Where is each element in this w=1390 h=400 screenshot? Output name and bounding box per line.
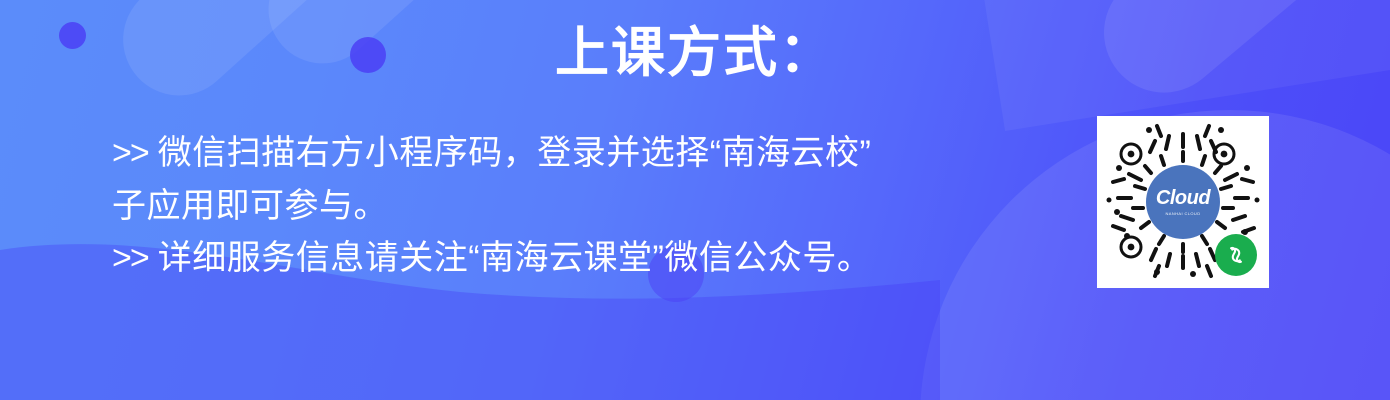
banner-title: 上课方式： <box>0 24 1390 83</box>
qr-logo-subtext: NANHAI CLOUD <box>1165 211 1200 216</box>
qr-code-card[interactable]: Cloud NANHAI CLOUD <box>1097 116 1269 288</box>
body-line-3-text: 详细服务信息请关注“南海云课堂”微信公众号。 <box>158 239 872 277</box>
banner-body: >>微信扫描右方小程序码，登录并选择“南海云校” 子应用即可参与。 >>详细服务… <box>112 127 1072 285</box>
wechat-miniprogram-icon <box>1215 234 1257 276</box>
body-line-3: >>详细服务信息请关注“南海云课堂”微信公众号。 <box>112 232 1072 285</box>
body-line-1-text: 微信扫描右方小程序码，登录并选择“南海云校” <box>158 134 872 172</box>
qr-center-logo: Cloud NANHAI CLOUD <box>1146 165 1220 239</box>
chevron-marker-icon: >> <box>112 134 158 172</box>
body-line-2-text: 子应用即可参与。 <box>112 187 388 225</box>
promo-banner: 上课方式： >>微信扫描右方小程序码，登录并选择“南海云校” 子应用即可参与。 … <box>0 0 1390 400</box>
body-line-2: 子应用即可参与。 <box>112 180 1072 233</box>
body-line-1: >>微信扫描右方小程序码，登录并选择“南海云校” <box>112 127 1072 180</box>
qr-logo-word: Cloud <box>1156 188 1210 208</box>
chevron-marker-icon-2: >> <box>112 239 158 277</box>
